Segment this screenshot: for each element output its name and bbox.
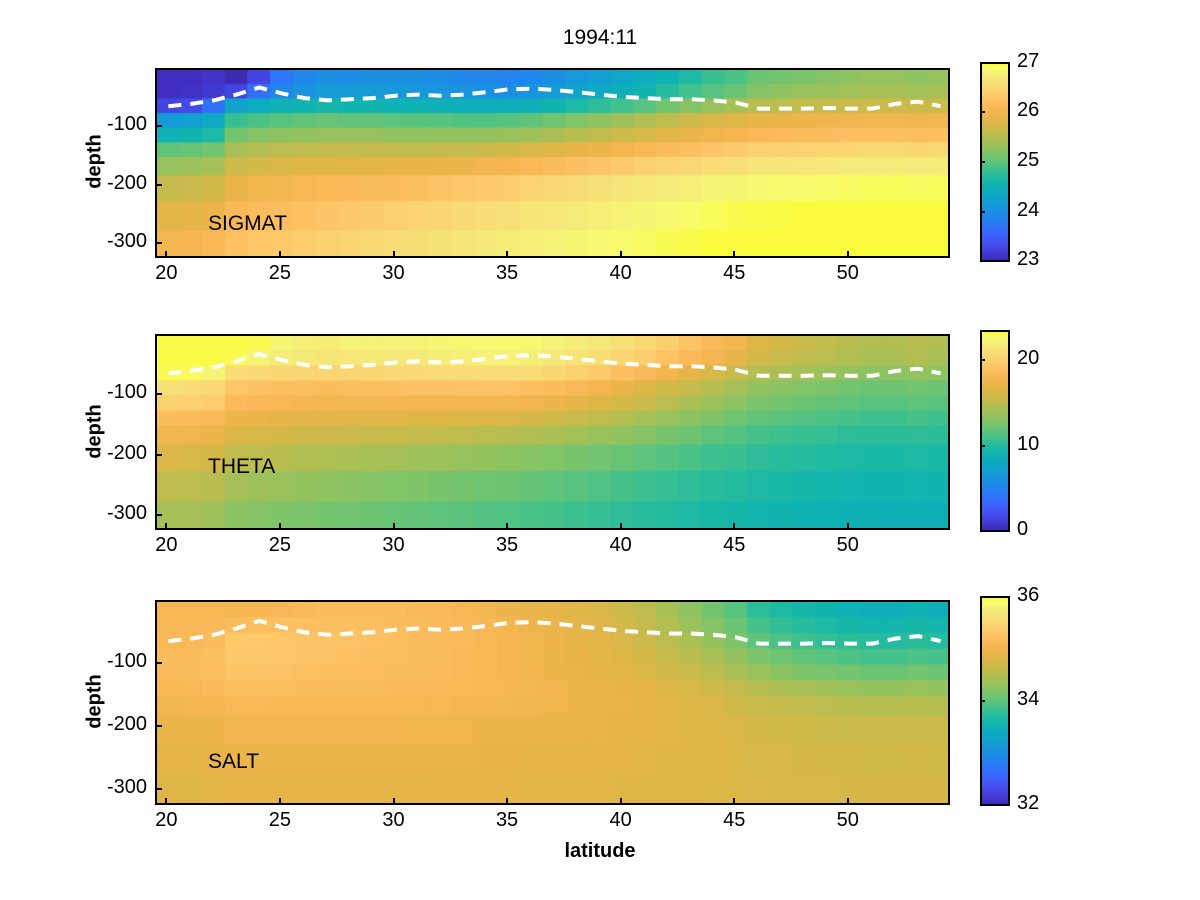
y-tick-label-0-1: -200 (73, 172, 147, 195)
x-tick-label-0-3: 35 (477, 262, 537, 285)
x-tick-mark-2-3 (506, 798, 508, 805)
x-tick-mark-2-4 (620, 798, 622, 805)
x-tick-label-1-5: 45 (704, 534, 764, 557)
x-tick-mark-1-1 (279, 523, 281, 530)
x-tick-label-2-5: 45 (704, 809, 764, 832)
x-tick-mark-2-1 (279, 798, 281, 805)
x-tick-label-2-0: 20 (136, 809, 196, 832)
colorbar-tick-mark-2-0 (980, 804, 985, 806)
colorbar-tick-label-2-2: 36 (1017, 584, 1039, 607)
x-tick-label-0-2: 30 (364, 262, 424, 285)
x-tick-mark-0-1 (279, 251, 281, 258)
x-tick-mark-1-6 (847, 523, 849, 530)
colorbar-tick-mark-0-0 (980, 260, 985, 262)
colorbar-tick-mark-1-1 (980, 445, 985, 447)
colorbar-tick-label-0-3: 26 (1017, 99, 1039, 122)
x-tick-label-1-2: 30 (364, 534, 424, 557)
x-tick-label-1-4: 40 (591, 534, 651, 557)
colorbar-gradient-salt (982, 598, 1010, 806)
y-tick-label-0-0: -100 (73, 113, 147, 136)
x-tick-mark-2-6 (847, 798, 849, 805)
y-tick-mark-1-2 (155, 514, 162, 516)
colorbar-tick-mark-1-0 (980, 530, 985, 532)
colorbar-tick-mark-2-1 (980, 700, 985, 702)
x-tick-mark-0-5 (733, 251, 735, 258)
colorbar-tick-label-0-4: 27 (1017, 50, 1039, 73)
colorbar-gradient-sigmat (982, 64, 1010, 262)
y-tick-label-0-2: -300 (73, 230, 147, 253)
colorbar-tick-label-0-2: 25 (1017, 149, 1039, 172)
y-tick-label-2-0: -100 (73, 650, 147, 673)
y-tick-label-1-2: -300 (73, 502, 147, 525)
x-tick-label-2-1: 25 (250, 809, 310, 832)
x-tick-mark-1-3 (506, 523, 508, 530)
mixed-layer-depth-line-salt (157, 602, 950, 805)
colorbar-tick-label-2-1: 34 (1017, 688, 1039, 711)
colorbar-tick-mark-0-2 (980, 161, 985, 163)
colorbar-tick-mark-2-2 (980, 596, 985, 598)
x-tick-label-0-1: 25 (250, 262, 310, 285)
x-tick-mark-0-6 (847, 251, 849, 258)
y-tick-mark-2-1 (155, 725, 162, 727)
x-tick-label-2-4: 40 (591, 809, 651, 832)
x-tick-mark-0-2 (393, 251, 395, 258)
x-tick-label-0-0: 20 (136, 262, 196, 285)
colorbar-tick-label-1-2: 20 (1017, 347, 1039, 370)
plot-area-salt[interactable] (155, 600, 950, 805)
colorbar-tick-label-2-0: 32 (1017, 792, 1039, 815)
colorbar-tick-label-1-0: 0 (1017, 518, 1028, 541)
y-tick-mark-1-0 (155, 393, 162, 395)
x-tick-label-0-6: 50 (818, 262, 878, 285)
y-tick-label-2-2: -300 (73, 776, 147, 799)
y-tick-label-1-0: -100 (73, 381, 147, 404)
panel-label-salt: SALT (208, 750, 259, 774)
x-tick-label-1-0: 20 (136, 534, 196, 557)
y-tick-mark-0-0 (155, 125, 162, 127)
x-tick-mark-0-0 (165, 251, 167, 258)
colorbar-tick-mark-1-2 (980, 359, 985, 361)
y-tick-mark-2-0 (155, 662, 162, 664)
colorbar-tick-mark-0-1 (980, 211, 985, 213)
x-tick-label-0-4: 40 (591, 262, 651, 285)
y-tick-mark-1-1 (155, 454, 162, 456)
x-tick-label-2-3: 35 (477, 809, 537, 832)
figure-canvas: 1994:11 SIGMAT depth THETA depth SALT de… (0, 0, 1200, 900)
panel-label-theta: THETA (208, 455, 275, 479)
colorbar-tick-mark-0-4 (980, 62, 985, 64)
y-tick-label-1-1: -200 (73, 442, 147, 465)
x-tick-label-0-5: 45 (704, 262, 764, 285)
x-tick-mark-0-4 (620, 251, 622, 258)
x-tick-label-2-2: 30 (364, 809, 424, 832)
x-tick-mark-2-5 (733, 798, 735, 805)
mixed-layer-depth-line-theta (157, 336, 950, 530)
x-tick-mark-2-0 (165, 798, 167, 805)
y-tick-label-2-1: -200 (73, 713, 147, 736)
x-tick-mark-1-5 (733, 523, 735, 530)
x-tick-mark-1-2 (393, 523, 395, 530)
colorbar-tick-mark-0-3 (980, 111, 985, 113)
x-tick-mark-1-0 (165, 523, 167, 530)
x-tick-label-1-6: 50 (818, 534, 878, 557)
y-tick-mark-2-2 (155, 788, 162, 790)
x-axis-label: latitude (0, 840, 1200, 863)
colorbar-tick-label-1-1: 10 (1017, 433, 1039, 456)
panel-label-sigmat: SIGMAT (208, 212, 287, 236)
x-tick-label-1-1: 25 (250, 534, 310, 557)
colorbar-tick-label-0-1: 24 (1017, 199, 1039, 222)
x-tick-mark-0-3 (506, 251, 508, 258)
x-tick-label-1-3: 35 (477, 534, 537, 557)
y-tick-mark-0-1 (155, 184, 162, 186)
x-tick-mark-2-2 (393, 798, 395, 805)
y-tick-mark-0-2 (155, 242, 162, 244)
figure-title: 1994:11 (0, 26, 1200, 50)
x-tick-label-2-6: 50 (818, 809, 878, 832)
colorbar-tick-label-0-0: 23 (1017, 248, 1039, 271)
colorbar-gradient-theta (982, 332, 1010, 532)
plot-area-theta[interactable] (155, 334, 950, 530)
x-tick-mark-1-4 (620, 523, 622, 530)
